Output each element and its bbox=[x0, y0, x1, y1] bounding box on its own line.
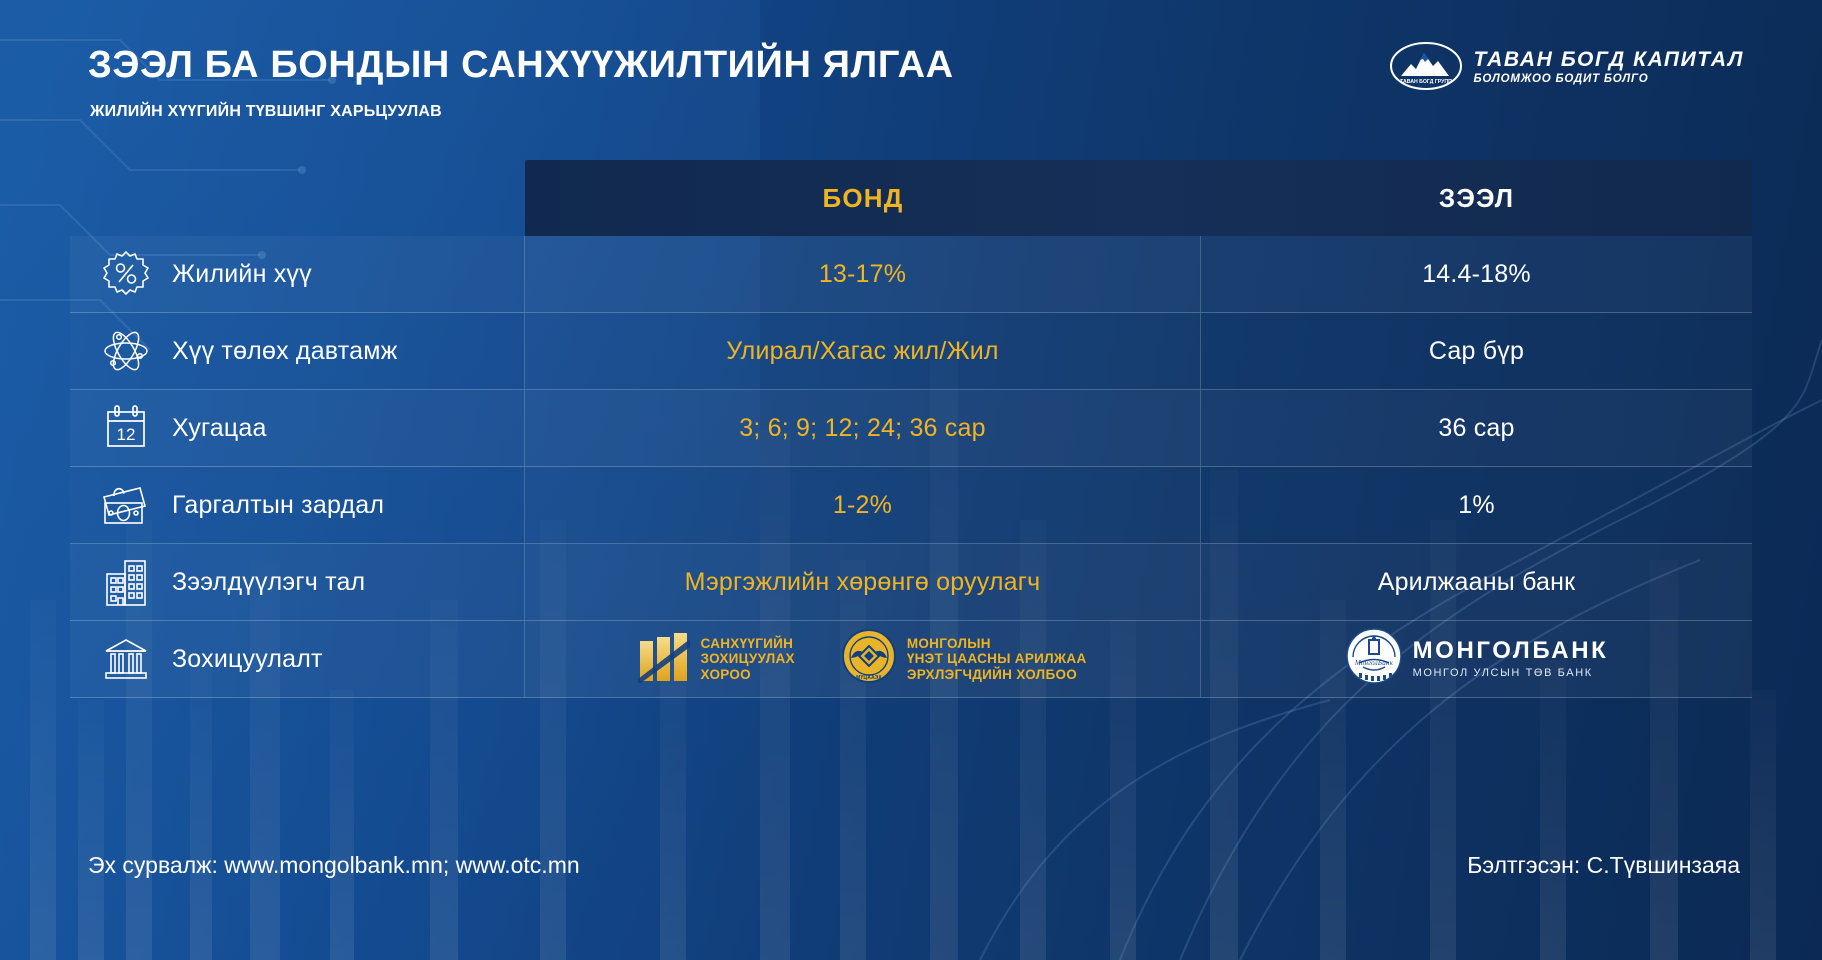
fsc-bars-icon bbox=[638, 629, 690, 690]
row-label: Жилийн хүү bbox=[172, 260, 312, 289]
mongolbank-seal-icon: МонголБанк bbox=[1345, 627, 1403, 692]
msda-seal-icon: МҮЦААЭХ bbox=[841, 628, 897, 691]
page-title: ЗЭЭЛ БА БОНДЫН САНХҮҮЖИЛТИЙН ЯЛГАА bbox=[88, 44, 954, 87]
percent-badge-icon bbox=[98, 246, 154, 302]
prepared-by-text: Бэлтгэсэн: С.Түвшинзаяа bbox=[1467, 852, 1740, 879]
table-row: Гаргалтын зардал 1-2% 1% bbox=[70, 467, 1752, 544]
row-label: Хүү төлөх давтамж bbox=[172, 337, 398, 366]
cell-loan-regulator: МонголБанк МОНГОЛБАНК МОНГОЛ УЛСЫН ТӨВ Б… bbox=[1201, 621, 1752, 697]
logo-company-name: ТАВАН БОГД КАПИТАЛ bbox=[1474, 48, 1744, 72]
fsc-text: САНХҮҮГИЙН ЗОХИЦУУЛАХ ХОРОО bbox=[700, 636, 794, 681]
page-subtitle: ЖИЛИЙН ХҮҮГИЙН ТҮВШИНГ ХАРЬЦУУЛАВ bbox=[90, 103, 442, 121]
mongolbank-logo: МонголБанк МОНГОЛБАНК МОНГОЛ УЛСЫН ТӨВ Б… bbox=[1345, 627, 1609, 692]
mongolbank-name: МОНГОЛБАНК bbox=[1413, 639, 1609, 663]
table-row: Жилийн хүү 13-17% 14.4-18% bbox=[70, 236, 1752, 313]
table-row: Зохицуулалт bbox=[70, 621, 1752, 698]
row-label-cell: Жилийн хүү bbox=[70, 236, 525, 312]
banknotes-icon bbox=[98, 477, 154, 533]
cell-bond: Мэргэжлийн хөрөнгө оруулагч bbox=[525, 544, 1201, 620]
emblem-text: ТАВАН БОГД ГРУПП bbox=[1400, 79, 1452, 85]
msda-line2: ҮНЭТ ЦААСНЫ АРИЛЖАА bbox=[907, 651, 1087, 666]
buildings-icon bbox=[98, 554, 154, 610]
bank-columns-icon bbox=[98, 631, 154, 687]
cell-loan: Сар бүр bbox=[1201, 313, 1752, 389]
atom-icon bbox=[98, 323, 154, 379]
mongolbank-text: МОНГОЛБАНК МОНГОЛ УЛСЫН ТӨВ БАНК bbox=[1413, 639, 1609, 679]
logo-text-block: ТАВАН БОГД КАПИТАЛ БОЛОМЖОО БОДИТ БОЛГО bbox=[1474, 48, 1744, 85]
row-label: Зохицуулалт bbox=[172, 645, 323, 674]
cell-bond: 1-2% bbox=[525, 467, 1201, 543]
table-row: 12 Хугацаа 3; 6; 9; 12; 24; 36 сар 36 са… bbox=[70, 390, 1752, 467]
table-row: Зээлдүүлэгч тал Мэргэжлийн хөрөнгө оруул… bbox=[70, 544, 1752, 621]
row-label-cell: Зохицуулалт bbox=[70, 621, 525, 697]
cell-bond: Улирал/Хагас жил/Жил bbox=[525, 313, 1201, 389]
table-row: Хүү төлөх давтамж Улирал/Хагас жил/Жил С… bbox=[70, 313, 1752, 390]
msda-text: МОНГОЛЫН ҮНЭТ ЦААСНЫ АРИЛЖАА ЭРХЛЭГЧДИЙН… bbox=[907, 636, 1087, 681]
fsc-logo: САНХҮҮГИЙН ЗОХИЦУУЛАХ ХОРОО bbox=[638, 629, 794, 690]
fsc-line3: ХОРОО bbox=[700, 667, 794, 682]
msda-line3: ЭРХЛЭГЧДИЙН ХОЛБОО bbox=[907, 667, 1087, 682]
cell-loan: 14.4-18% bbox=[1201, 236, 1752, 312]
mountain-emblem-icon: ТАВАН БОГД ГРУПП bbox=[1389, 40, 1463, 92]
row-label-cell: Гаргалтын зардал bbox=[70, 467, 525, 543]
msda-emblem-text: МҮЦААЭХ bbox=[856, 675, 882, 681]
bond-regulator-logos: САНХҮҮГИЙН ЗОХИЦУУЛАХ ХОРОО bbox=[535, 628, 1190, 691]
row-label: Зээлдүүлэгч тал bbox=[172, 568, 365, 597]
cell-loan: Арилжааны банк bbox=[1201, 544, 1752, 620]
row-label-cell: Зээлдүүлэгч тал bbox=[70, 544, 525, 620]
fsc-line2: ЗОХИЦУУЛАХ bbox=[700, 651, 794, 666]
table-header-row: БОНД ЗЭЭЛ bbox=[70, 160, 1752, 236]
row-label: Гаргалтын зардал bbox=[172, 491, 384, 520]
cell-bond-regulators: САНХҮҮГИЙН ЗОХИЦУУЛАХ ХОРОО bbox=[525, 621, 1201, 697]
page-footer: Эх сурвалж: www.mongolbank.mn; www.otc.m… bbox=[0, 838, 1822, 908]
cell-loan: 36 сар bbox=[1201, 390, 1752, 466]
msda-line1: МОНГОЛЫН bbox=[907, 636, 1087, 651]
calendar-12-icon: 12 bbox=[98, 400, 154, 456]
mongolbank-subtitle: МОНГОЛ УЛСЫН ТӨВ БАНК bbox=[1413, 667, 1609, 679]
fsc-line1: САНХҮҮГИЙН bbox=[700, 636, 794, 651]
svg-text:12: 12 bbox=[117, 425, 136, 444]
msda-logo: МҮЦААЭХ МОНГОЛЫН ҮНЭТ ЦААСНЫ АРИЛЖАА ЭРХ… bbox=[841, 628, 1087, 691]
mongolbank-emblem-text: МонголБанк bbox=[1353, 659, 1393, 667]
column-header-bond: БОНД bbox=[525, 183, 1201, 214]
cell-loan: 1% bbox=[1201, 467, 1752, 543]
comparison-table: БОНД ЗЭЭЛ Жилийн хүү 13-17% 14.4-18% bbox=[70, 160, 1752, 698]
column-header-loan: ЗЭЭЛ bbox=[1201, 183, 1752, 214]
company-logo: ТАВАН БОГД ГРУПП ТАВАН БОГД КАПИТАЛ БОЛО… bbox=[1389, 40, 1744, 92]
row-label: Хугацаа bbox=[172, 414, 267, 443]
row-label-cell: 12 Хугацаа bbox=[70, 390, 525, 466]
cell-bond: 13-17% bbox=[525, 236, 1201, 312]
header-group: БОНД ЗЭЭЛ bbox=[525, 160, 1752, 236]
logo-tagline: БОЛОМЖОО БОДИТ БОЛГО bbox=[1474, 73, 1744, 85]
header-spacer bbox=[70, 160, 525, 236]
row-label-cell: Хүү төлөх давтамж bbox=[70, 313, 525, 389]
cell-bond: 3; 6; 9; 12; 24; 36 сар bbox=[525, 390, 1201, 466]
page-header: ЗЭЭЛ БА БОНДЫН САНХҮҮЖИЛТИЙН ЯЛГАА ЖИЛИЙ… bbox=[0, 0, 1822, 160]
source-text: Эх сурвалж: www.mongolbank.mn; www.otc.m… bbox=[88, 852, 580, 879]
